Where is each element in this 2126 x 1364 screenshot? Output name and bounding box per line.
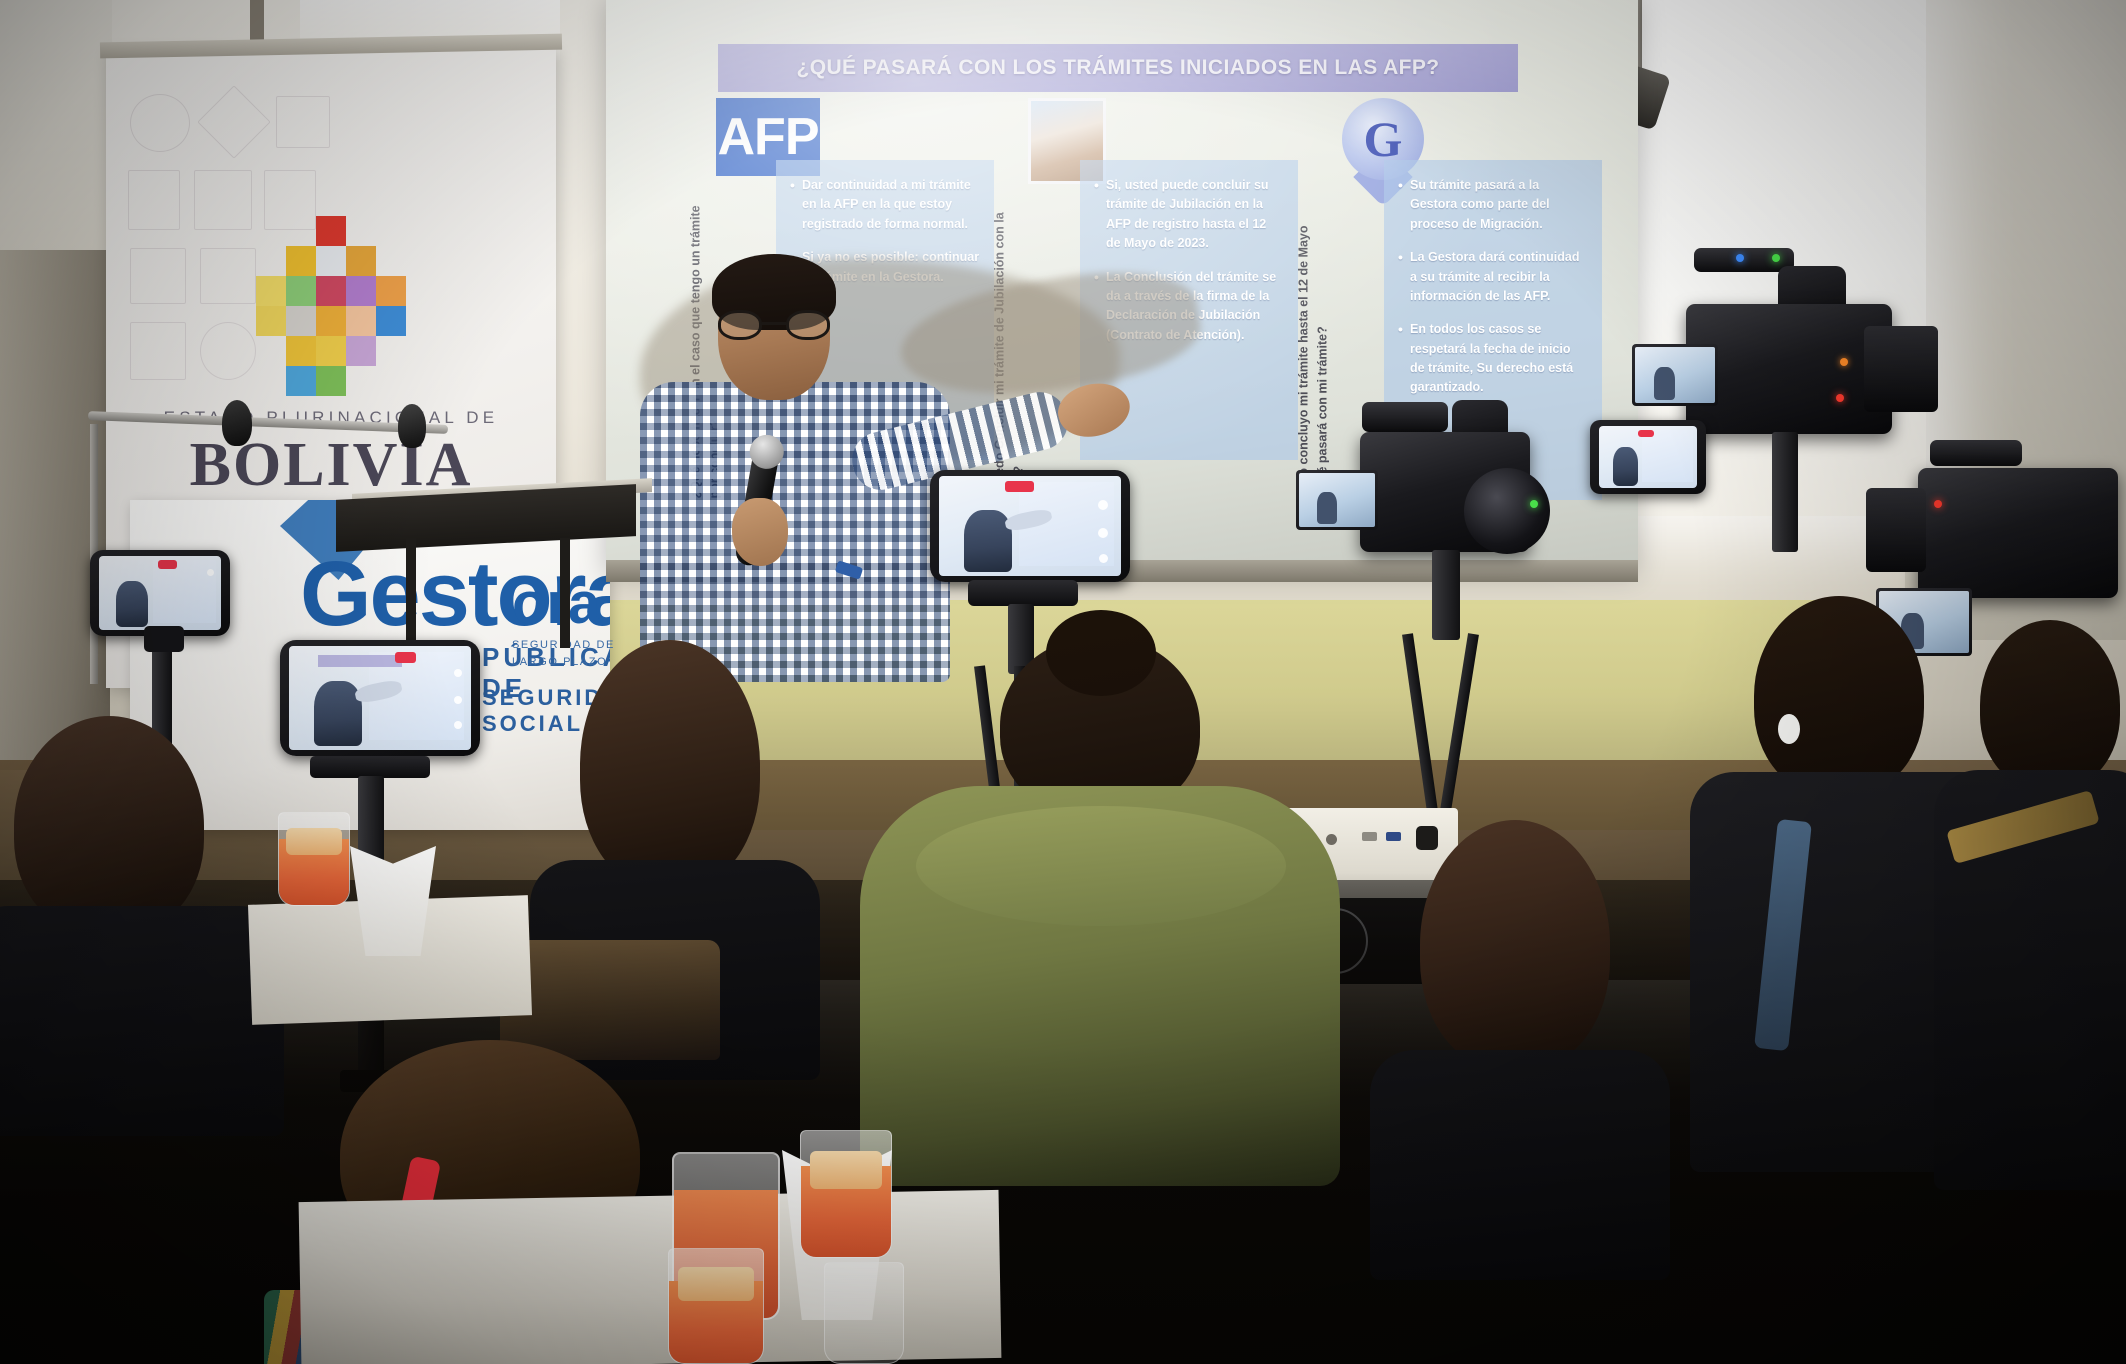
tally-light-orange [1840,358,1848,366]
boom-microphone-2-icon [398,404,426,448]
phone-center-tripod[interactable] [930,470,1130,582]
tally-light-green [1772,254,1780,262]
tally-light-blue [1736,254,1744,262]
lcd-preview [1299,473,1375,527]
fleece-hood [916,806,1286,926]
phone-right-dslr-mount[interactable] [1590,420,1706,494]
person-hair [1980,620,2120,790]
lcd-subject-figure [1317,492,1337,523]
speaker-mic-hand [732,498,788,566]
fruit-pieces [678,1267,753,1301]
audience-woman-green-fleece [860,636,1340,1176]
wiphala-cross-emblem-icon [247,216,415,384]
eyeglass-bridge [762,322,786,325]
camera-lcd-screen[interactable] [1632,344,1718,406]
person-hair [14,716,204,936]
phone-ui-dot [454,696,462,704]
shotgun-microphone-icon [1362,402,1448,432]
hair-bun [1046,610,1156,696]
phone-screen-speaker-figure [314,681,361,745]
phone-left-gimbal-screen [99,556,221,630]
phone-ui-dot [207,569,214,576]
camera-lens-hood [1864,326,1938,412]
phone-mount-head [968,580,1078,606]
lcd-preview [1635,347,1715,403]
camera-operator-far-right [1944,620,2126,1180]
phone-left-lower-screen [289,646,471,750]
shotgun-microphone-icon [1930,440,2022,466]
person-hair [580,640,760,890]
phone-screen-speaker-figure [964,510,1011,572]
tally-light-red [1934,500,1942,508]
tally-light-red [1836,394,1844,402]
camera-lens-hood [1866,488,1926,572]
phone-screen-speaker-figure [116,581,148,627]
tripod-column [1432,550,1460,640]
eyeglass-lens-right [786,310,830,340]
phone-rec-badge [158,560,178,568]
audience-woman-center-right [1370,820,1670,1260]
phone-rec-badge [1638,430,1654,437]
speaker-presenter [640,262,950,682]
slide-column-3-bullet-3: En todos los casos se respetará la fecha… [1398,320,1588,398]
slide-title: ¿QUÉ PASARÁ CON LOS TRÁMITES INICIADOS E… [796,56,1439,80]
slide-column-3-bullet-1: Su trámite pasará a la Gestora como part… [1398,176,1588,234]
water-glass [824,1262,904,1364]
camera-lcd-screen[interactable] [1296,470,1378,530]
phone-ui-dot [454,721,462,729]
phone-left-lower[interactable] [280,640,480,756]
lectern-post-right [560,538,570,648]
juice-glass-left [278,812,350,906]
tripod-column [1772,432,1798,552]
tally-light-green [1530,500,1538,508]
lcd-subject-figure [1654,367,1675,399]
slide-column-2-bullet-1: Si, usted puede concluir su trámite de J… [1094,176,1284,254]
camcorder-far-right-lower[interactable] [1918,468,2118,598]
slide-column-1-bullet-1: Dar continuidad a mi trámite en la AFP e… [790,176,980,234]
press-conference-photo: ESTADO PLURINACIONAL DE BOLIVIA Gestora … [0,0,2126,1364]
phone-screen-slide-preview [1642,430,1693,482]
phone-clamp [310,756,430,778]
boom-microphone-1-icon [222,400,252,446]
fruit-pieces [286,828,342,856]
phone-rec-badge [395,652,417,662]
phone-ui-dot [454,669,462,677]
earbud-icon [1778,714,1800,744]
person-hair [1754,596,1924,796]
phone-rec-badge [1005,481,1034,492]
slide-title-bar: ¿QUÉ PASARÁ CON LOS TRÁMITES INICIADOS E… [718,44,1518,92]
phone-left-gimbal[interactable] [90,550,230,636]
phone-center-screen [939,476,1121,576]
gimbal-head [144,626,184,652]
eyeglasses-icon [718,310,830,340]
person-torso [1370,1050,1670,1280]
fruit-pieces [810,1151,882,1189]
phone-right-screen [1599,426,1697,488]
person-hair [1420,820,1610,1070]
phone-screen-speaker-figure [1613,447,1638,485]
camera-lens-icon [1464,468,1550,554]
juice-glass-foreground-2 [800,1130,892,1258]
juice-glass-foreground-1 [668,1248,764,1364]
slide-column-3-bullet-2: La Gestora dará continuidad a su trámite… [1398,248,1588,306]
person-torso [0,906,284,1136]
phone-screen-title-bar [318,655,402,666]
slide-column-3-vertical-label: Si no concluyo mi trámite hasta el 12 de… [1295,198,1333,498]
eyeglass-lens-left [718,310,762,340]
